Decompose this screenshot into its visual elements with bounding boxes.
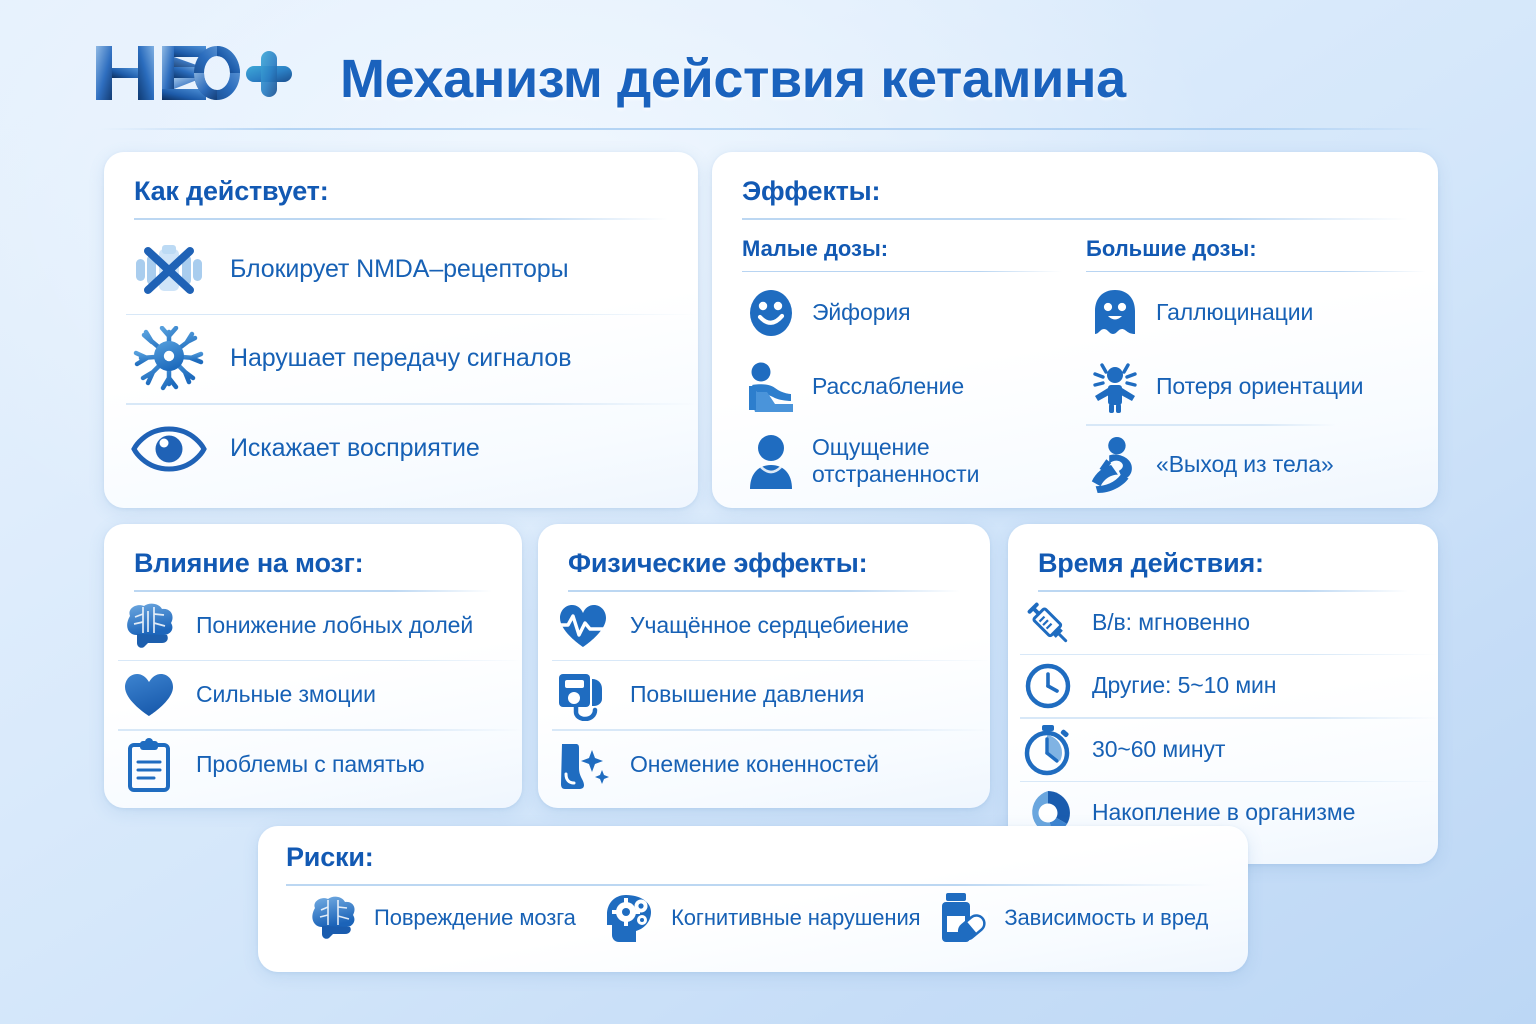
effects-column-low-dose: Малые дозы: Эйфория [742, 236, 1062, 496]
list-item-label: Эйфория [812, 299, 911, 326]
list-item[interactable]: Галлюцинации [1086, 282, 1426, 344]
list-item[interactable]: Сильные змоции [104, 661, 522, 729]
list-item-label: Накопление в организме [1092, 799, 1355, 826]
list-item[interactable]: Понижение лобных долей [104, 592, 522, 660]
clipboard-icon [118, 738, 180, 792]
list-item-label: Ощущение отстраненности [812, 434, 1062, 488]
list-item[interactable]: Ощущение отстраненности [742, 430, 1062, 492]
card-divider [134, 218, 668, 220]
list-item[interactable]: Искажает восприятие [104, 405, 698, 493]
card-how-it-works: Как действует: [104, 152, 698, 508]
neuron-icon [126, 326, 212, 392]
list-item-label: Другие: 5~10 мин [1092, 672, 1276, 699]
eye-icon [126, 426, 212, 472]
list-item-label: Учащённое сердцебиение [630, 612, 909, 639]
brain-icon [118, 602, 180, 650]
card-duration: Время действия: В/в: мгнов [1008, 524, 1438, 864]
card-divider [286, 884, 1216, 886]
page-header: Механизм действия кетамина [0, 0, 1536, 140]
brain-damage-icon [304, 895, 362, 941]
heart-icon [118, 671, 180, 719]
list-item[interactable]: Расслабление [742, 356, 1062, 418]
list-item[interactable]: Эйфория [742, 282, 1062, 344]
list-item[interactable]: Нарушает передачу сигналов [104, 315, 698, 403]
logo-letter-o [194, 46, 240, 100]
list-item[interactable]: 30~60 минут [1008, 719, 1438, 781]
card-physical-effects: Физические эффекты: Учащённое сердцебиен… [538, 524, 990, 808]
header-divider [100, 128, 1436, 130]
list-item[interactable]: Повреждение мозга [286, 895, 601, 941]
list-item-label: Проблемы с памятью [196, 751, 425, 778]
subtitle-high-dose: Большие дозы: [1086, 236, 1426, 262]
effects-column-high-dose: Большие дозы: Галлюцинации [1086, 236, 1426, 496]
list-item[interactable]: Повышение давления [538, 661, 990, 729]
list-item-label: Повышение давления [630, 681, 864, 708]
page-title: Механизм действия кетамина [340, 48, 1126, 110]
card-risks: Риски: Повр [258, 826, 1248, 972]
card-title-effects: Эффекты: [742, 176, 1408, 207]
list-item-label: Зависимость и вред [1004, 905, 1208, 931]
list-item[interactable]: Проблемы с памятью [104, 731, 522, 799]
clock-icon [1020, 662, 1076, 710]
reclining-person-icon [742, 360, 800, 414]
list-item-label: Расслабление [812, 373, 964, 400]
blocked-receptor-icon [126, 241, 212, 299]
list-item-label: Сильные змоции [196, 681, 376, 708]
smiley-face-icon [742, 288, 800, 338]
card-title-risks: Риски: [286, 842, 1220, 873]
row-divider [1086, 424, 1336, 426]
list-item-label: Блокирует NMDA–рецепторы [230, 255, 568, 285]
head-gears-icon [601, 893, 659, 943]
logo-letter-n [96, 46, 154, 100]
list-item-label: Нарушает передачу сигналов [230, 344, 571, 374]
ghost-icon [1086, 288, 1144, 338]
subtitle-low-dose: Малые дозы: [742, 236, 1062, 262]
list-item[interactable]: Зависимость и вред [934, 892, 1220, 944]
list-item-label: Понижение лобных долей [196, 612, 473, 639]
list-item-label: Галлюцинации [1156, 299, 1313, 326]
card-divider [742, 218, 1408, 220]
card-title-how: Как действует: [134, 176, 668, 207]
list-item[interactable]: Когнитивные нарушения [601, 893, 934, 943]
logo-letter-plus [246, 51, 292, 97]
list-item-label: Искажает восприятие [230, 434, 480, 464]
list-item-label: Потеря ориентации [1156, 373, 1363, 400]
card-effects: Эффекты: Малые дозы: Эйфория [712, 152, 1438, 508]
brand-logo [94, 40, 294, 106]
card-title-brain: Влияние на мозг: [134, 548, 492, 579]
heart-pulse-icon [552, 601, 614, 651]
card-brain-impact: Влияние на мозг: Понижение лобных долей [104, 524, 522, 808]
list-item-label: Когнитивные нарушения [671, 905, 920, 931]
blood-pressure-monitor-icon [552, 669, 614, 721]
person-silhouette-icon [742, 433, 800, 489]
list-item-label: Онемение коненностей [630, 751, 879, 778]
card-title-physical: Физические эффекты: [568, 548, 960, 579]
list-item[interactable]: Потеря ориентации [1086, 356, 1426, 418]
subtitle-divider [1086, 271, 1426, 273]
syringe-icon [1020, 597, 1076, 649]
list-item[interactable]: Учащённое сердцебиение [538, 592, 990, 660]
list-item[interactable]: Блокирует NMDA–рецепторы [104, 226, 698, 314]
list-item-label: Повреждение мозга [374, 905, 576, 931]
floating-body-icon [1086, 435, 1144, 495]
list-item-label: 30~60 минут [1092, 736, 1225, 763]
dizzy-person-icon [1086, 361, 1144, 413]
list-item[interactable]: «Выход из тела» [1086, 434, 1426, 496]
subtitle-divider [742, 271, 1062, 273]
list-item[interactable]: Другие: 5~10 мин [1008, 655, 1438, 717]
list-item-label: В/в: мгновенно [1092, 609, 1250, 636]
numb-foot-icon [552, 740, 614, 790]
card-title-time: Время действия: [1038, 548, 1408, 579]
list-item[interactable]: Онемение коненностей [538, 731, 990, 799]
pill-bottle-icon [934, 892, 992, 944]
list-item[interactable]: В/в: мгновенно [1008, 592, 1438, 654]
list-item-label: «Выход из тела» [1156, 451, 1334, 478]
stopwatch-icon [1020, 724, 1076, 776]
